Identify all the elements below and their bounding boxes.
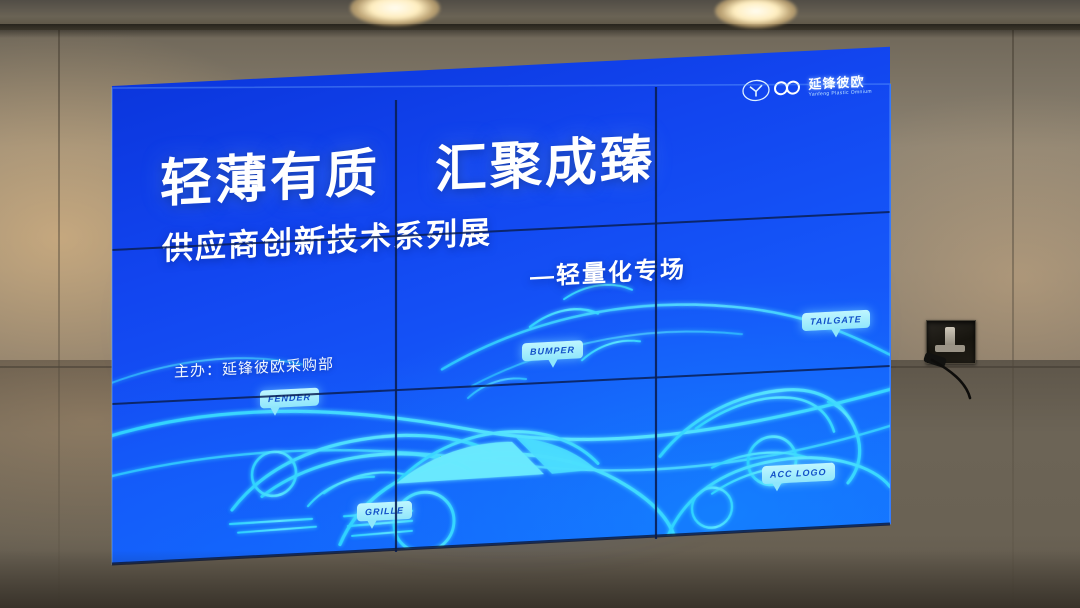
wall-vertical-seam-right — [1012, 28, 1014, 608]
wall-vertical-seam-left — [58, 28, 60, 608]
callout-fender: FENDER — [260, 388, 319, 409]
conference-room-photo: 延锋彼欧 Yanfeng Plastic Omnium 轻薄有质 汇聚成臻 供应… — [0, 0, 1080, 608]
callout-tail — [270, 407, 280, 417]
callout-acc-logo-label: ACC LOGO — [770, 467, 827, 480]
callout-grille: GRILLE — [357, 501, 412, 522]
callout-acc-logo: ACC LOGO — [762, 463, 835, 485]
callout-tail — [831, 328, 841, 338]
presentation-slide: 延锋彼欧 Yanfeng Plastic Omnium 轻薄有质 汇聚成臻 供应… — [112, 47, 890, 564]
plug-base — [935, 345, 965, 352]
callout-tailgate: TAILGATE — [802, 310, 870, 331]
floor-shadow — [0, 550, 1080, 608]
callout-bumper-label: BUMPER — [530, 345, 575, 357]
callout-bumper: BUMPER — [522, 340, 583, 361]
callout-tail — [367, 520, 377, 530]
brand-emblem-icon — [741, 75, 803, 104]
callout-fender-label: FENDER — [268, 392, 311, 404]
callout-tail — [772, 482, 782, 492]
callout-grille-label: GRILLE — [365, 505, 404, 517]
ceiling-shadow — [0, 24, 1080, 38]
callout-tail — [548, 359, 558, 369]
plug-icon — [945, 327, 955, 347]
brand-name-en: Yanfeng Plastic Omnium — [809, 90, 872, 98]
callout-tailgate-label: TAILGATE — [810, 314, 862, 327]
